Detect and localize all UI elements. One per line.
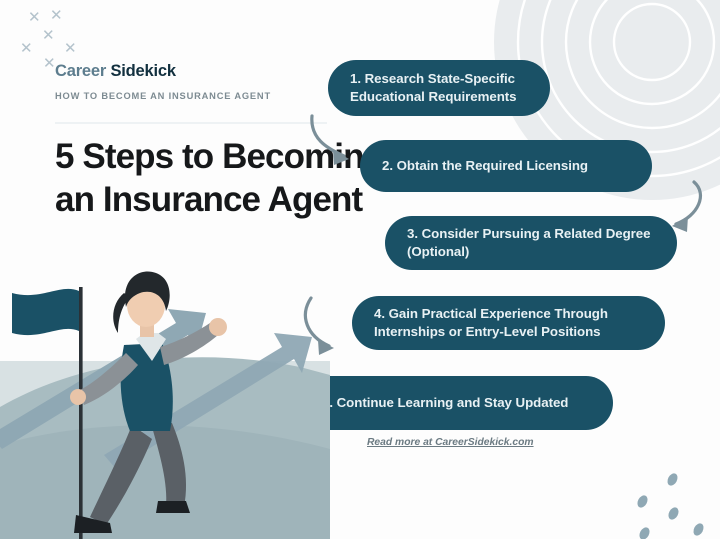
step-item-1[interactable]: 1. Research State-Specific Educational R…	[328, 60, 550, 116]
x-mark-icon: ✕	[50, 8, 63, 23]
step-label: 4. Gain Practical Experience Through Int…	[374, 305, 643, 340]
dot-icon	[666, 506, 680, 522]
brand-block: Career Sidekick HOW TO BECOME AN INSURAN…	[55, 62, 330, 101]
dot-icon	[637, 526, 651, 539]
x-mark-icon: ✕	[20, 41, 33, 56]
step-label: 2. Obtain the Required Licensing	[382, 157, 588, 175]
step-item-5[interactable]: 5. Continue Learning and Stay Updated	[300, 376, 613, 430]
x-mark-icon: ✕	[43, 56, 56, 71]
step-label: 5. Continue Learning and Stay Updated	[322, 394, 568, 412]
brand-name: Career Sidekick	[55, 62, 330, 81]
brand-name-bold: Sidekick	[110, 62, 175, 80]
x-mark-icon: ✕	[64, 41, 77, 56]
step-label: 3. Consider Pursuing a Related Degree (O…	[407, 225, 655, 260]
brand-divider	[55, 122, 327, 124]
illustration-person	[70, 271, 227, 533]
dot-icon	[691, 522, 705, 538]
illustration-arrows	[0, 309, 312, 469]
brand-name-light: Career	[55, 62, 106, 80]
step-item-4[interactable]: 4. Gain Practical Experience Through Int…	[352, 296, 665, 350]
infographic-canvas: ✕ ✕ ✕ ✕ ✕ ✕ Career Sidekick HOW TO BECOM…	[0, 0, 720, 539]
illustration-hill	[0, 357, 330, 539]
x-mark-icon: ✕	[42, 28, 55, 43]
illustration-climbing-person	[0, 249, 330, 539]
dot-icon	[665, 472, 679, 488]
page-title: 5 Steps to Becoming an Insurance Agent	[55, 136, 385, 221]
step-item-3[interactable]: 3. Consider Pursuing a Related Degree (O…	[385, 216, 677, 270]
step-label: 1. Research State-Specific Educational R…	[350, 70, 528, 105]
dots-decoration	[624, 457, 716, 539]
illustration-flag	[12, 287, 83, 539]
brand-subtitle: HOW TO BECOME AN INSURANCE AGENT	[55, 91, 330, 101]
read-more-link[interactable]: Read more at CareerSidekick.com	[367, 437, 534, 448]
x-mark-icon: ✕	[28, 10, 41, 25]
dot-icon	[635, 494, 649, 510]
step-item-2[interactable]: 2. Obtain the Required Licensing	[360, 140, 652, 192]
